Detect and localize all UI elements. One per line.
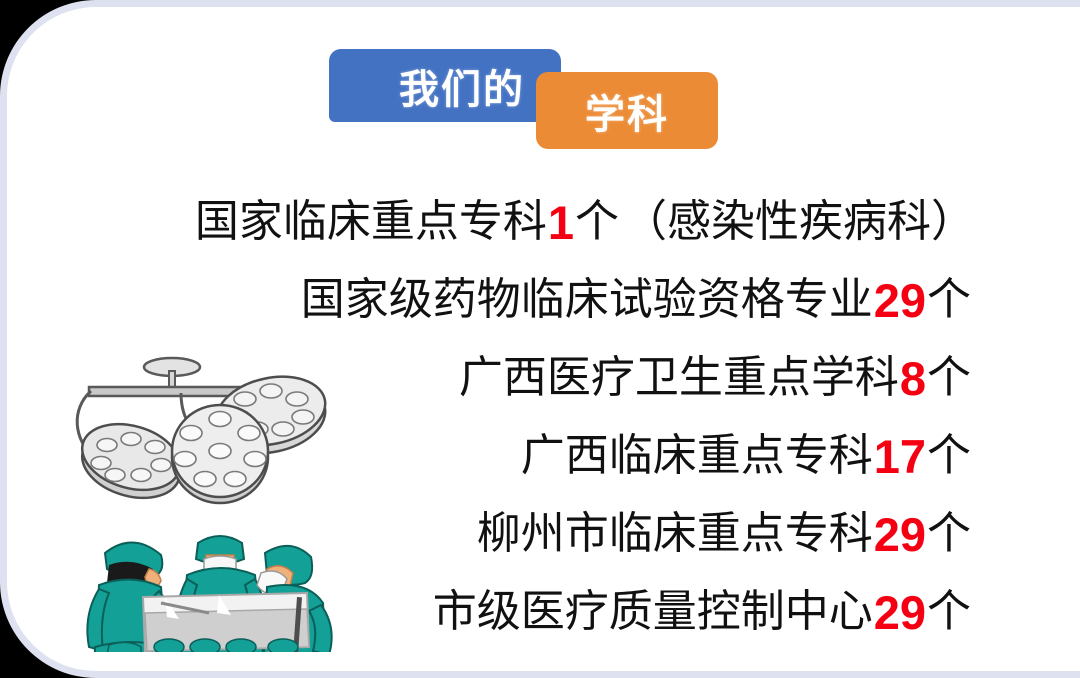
banner-chip-blue: 我们的 bbox=[329, 49, 561, 122]
stat-label: 国家级药物临床试验资格专业 bbox=[301, 278, 873, 322]
banner: 我们的 学科 bbox=[329, 49, 729, 149]
stat-number: 29 bbox=[873, 589, 927, 636]
stat-label: 市级医疗质量控制中心 bbox=[433, 590, 873, 634]
stat-unit: 个 bbox=[927, 434, 971, 478]
stat-unit: 个 bbox=[927, 512, 971, 556]
banner-chip-orange: 学科 bbox=[536, 72, 718, 149]
surgery-team-illustration bbox=[69, 347, 369, 652]
stat-number: 1 bbox=[547, 199, 575, 246]
stat-label: 广西医疗卫生重点学科 bbox=[459, 356, 899, 400]
stat-number: 8 bbox=[899, 355, 927, 402]
stat-unit: 个 bbox=[575, 200, 619, 244]
stat-unit: 个 bbox=[927, 590, 971, 634]
stat-number: 29 bbox=[873, 511, 927, 558]
stat-note: （感染性疾病科） bbox=[619, 200, 975, 244]
surgery-team-icon bbox=[69, 347, 369, 652]
stat-line: 国家级药物临床试验资格专业 29 个 bbox=[107, 261, 975, 339]
surgical-lamp-left bbox=[74, 413, 187, 508]
stat-unit: 个 bbox=[927, 278, 971, 322]
stat-line: 国家临床重点专科 1 个 （感染性疾病科） bbox=[107, 183, 975, 261]
banner-orange-label: 学科 bbox=[585, 82, 669, 140]
stat-number: 17 bbox=[873, 433, 927, 480]
stat-label: 国家临床重点专科 bbox=[195, 200, 547, 244]
info-card: 我们的 学科 国家临床重点专科 1 个 （感染性疾病科） 国家级药物临床试验资格… bbox=[0, 0, 1080, 678]
stat-label: 广西临床重点专科 bbox=[521, 434, 873, 478]
stat-label: 柳州市临床重点专科 bbox=[477, 512, 873, 556]
surgical-lamp-center bbox=[172, 405, 268, 503]
stat-unit: 个 bbox=[927, 356, 971, 400]
stat-number: 29 bbox=[873, 277, 927, 324]
screenshot-canvas: 我们的 学科 国家临床重点专科 1 个 （感染性疾病科） 国家级药物临床试验资格… bbox=[0, 0, 1080, 678]
banner-blue-label: 我们的 bbox=[399, 57, 525, 115]
info-card-surface: 我们的 学科 国家临床重点专科 1 个 （感染性疾病科） 国家级药物临床试验资格… bbox=[7, 7, 1080, 671]
